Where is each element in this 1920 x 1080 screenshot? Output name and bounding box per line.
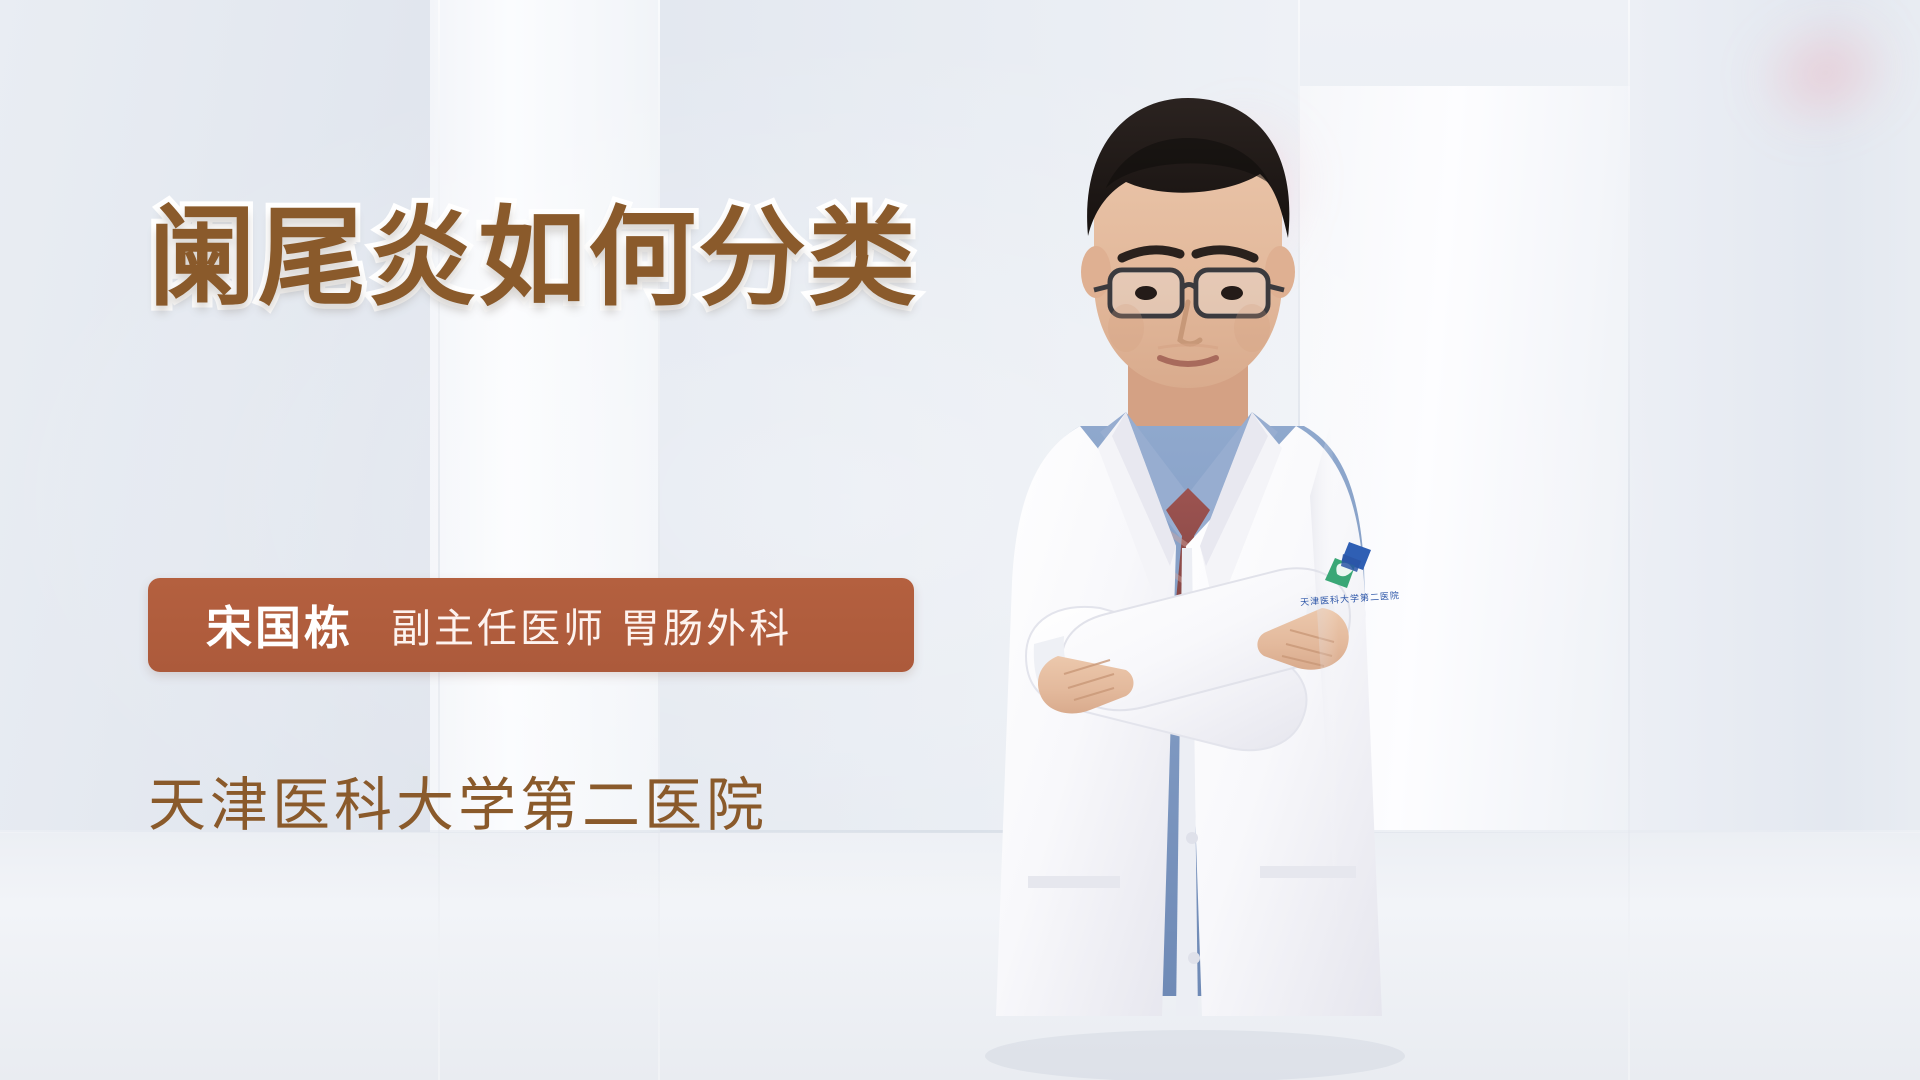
doctor-title-and-department: 副主任医师 胃肠外科 [391,596,792,654]
page-title: 阑尾炎如何分类 [148,196,918,319]
doctor-name: 宋国栋 [206,592,353,658]
doctor-credential-badge: 宋国栋 副主任医师 胃肠外科 [148,578,914,672]
hospital-name: 天津医科大学第二医院 [148,758,768,842]
video-thumbnail-card: 天津医科大学第二医院 阑尾炎如何分类 宋国栋 副主任医师 胃肠外科 天津医科大学… [0,0,1920,1080]
